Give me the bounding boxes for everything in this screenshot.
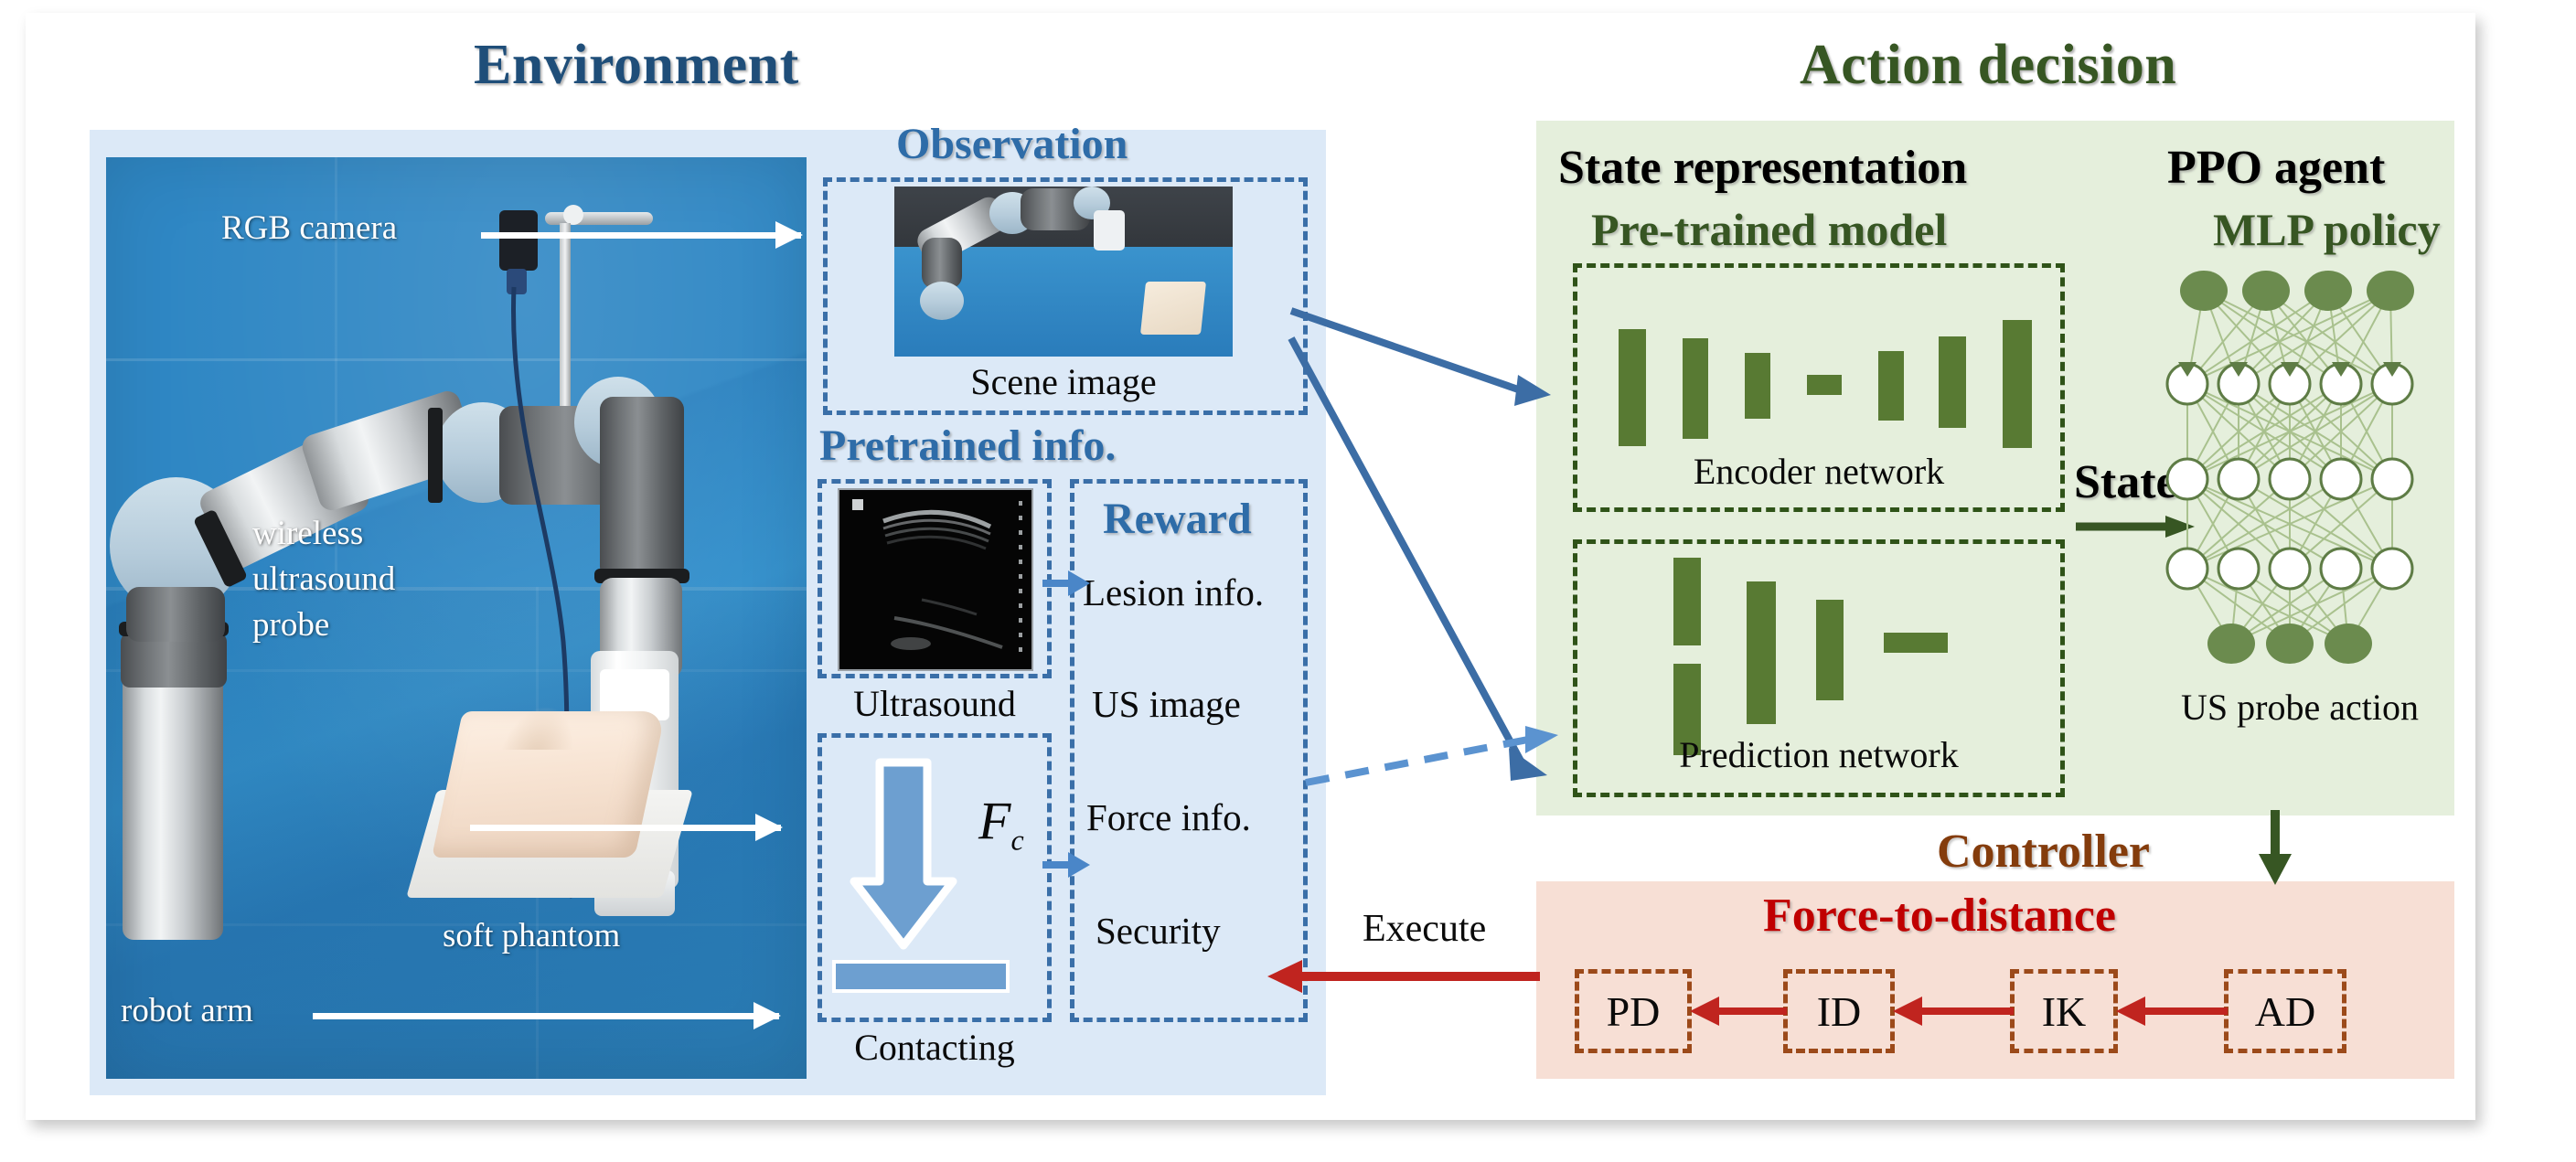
arrow-id-to-pd bbox=[1688, 995, 1790, 1028]
reward-heading: Reward bbox=[1103, 494, 1252, 544]
force-connector-arrow bbox=[1041, 847, 1092, 883]
controller-node-ik: IK bbox=[2010, 969, 2118, 1053]
reward-item-lesion-info: Lesion info. bbox=[1083, 570, 1264, 614]
reward-item-security: Security bbox=[1096, 909, 1221, 953]
scene-image-caption: Scene image bbox=[894, 360, 1233, 403]
robot-arm-label: robot arm bbox=[121, 991, 253, 1030]
experiment-setup-photo: RGB camera wireless ultrasound probe sof… bbox=[106, 157, 807, 1079]
controller-node-pd: PD bbox=[1575, 969, 1692, 1053]
soft-phantom-object bbox=[422, 706, 678, 902]
probe-pointer bbox=[470, 825, 781, 831]
ultrasound-caption: Ultrasound bbox=[818, 682, 1052, 725]
rgb-camera-label: RGB camera bbox=[221, 208, 397, 248]
force-arrow-icon bbox=[847, 757, 966, 967]
reward-item-force-info: Force info. bbox=[1086, 795, 1251, 839]
environment-panel: RGB camera wireless ultrasound probe sof… bbox=[90, 130, 1326, 1095]
soft-phantom-label: soft phantom bbox=[443, 916, 620, 955]
arrow-ad-to-ik bbox=[2114, 995, 2231, 1028]
observation-heading: Observation bbox=[896, 119, 1128, 169]
probe-label-line2: ultrasound bbox=[252, 560, 395, 599]
robot-arm-pointer bbox=[313, 1013, 779, 1019]
ppo-agent-heading: PPO agent bbox=[2167, 141, 2385, 195]
scene-image bbox=[894, 187, 1233, 357]
state-representation-heading: State representation bbox=[1558, 141, 1967, 195]
reward-to-prediction-dashed-arrow bbox=[1306, 726, 1560, 790]
controller-node-ad: AD bbox=[2224, 969, 2346, 1053]
encoder-network-caption: Encoder network bbox=[1573, 450, 2065, 493]
state-arrow-label: State bbox=[2074, 455, 2177, 509]
reward-item-us-image: US image bbox=[1092, 682, 1241, 726]
action-to-controller-arrow bbox=[2257, 810, 2293, 887]
force-to-distance-subtitle: Force-to-distance bbox=[1763, 889, 2116, 943]
rgb-camera-pointer bbox=[481, 232, 801, 239]
probe-label-line1: wireless bbox=[252, 514, 363, 553]
pretrained-info-heading: Pretrained info. bbox=[819, 421, 1116, 471]
environment-title: Environment bbox=[474, 33, 799, 98]
figure-page: Environment Action decision bbox=[26, 13, 2475, 1120]
contact-plate bbox=[832, 960, 1010, 993]
controller-node-id: ID bbox=[1783, 969, 1895, 1053]
execute-label: Execute bbox=[1363, 907, 1486, 951]
action-decision-title: Action decision bbox=[1800, 33, 2176, 98]
controller-panel: Force-to-distance PD ID IK AD bbox=[1536, 881, 2454, 1079]
arrow-ik-to-id bbox=[1891, 995, 2017, 1028]
mlp-policy-heading: MLP policy bbox=[2213, 203, 2441, 256]
execute-arrow bbox=[1266, 958, 1547, 995]
force-symbol: Fc bbox=[978, 790, 1024, 858]
us-probe-action-caption: US probe action bbox=[2167, 686, 2432, 729]
ultrasound-image bbox=[838, 488, 1033, 671]
prediction-network-caption: Prediction network bbox=[1573, 733, 2065, 776]
pre-trained-model-heading: Pre-trained model bbox=[1591, 203, 1947, 256]
probe-label-line3: probe bbox=[252, 605, 329, 645]
action-decision-panel: State representation PPO agent Pre-train… bbox=[1536, 121, 2454, 816]
contacting-caption: Contacting bbox=[818, 1026, 1052, 1069]
controller-title: Controller bbox=[1937, 825, 2150, 879]
mlp-policy-network bbox=[2167, 267, 2432, 669]
lesion-connector-arrow bbox=[1041, 565, 1092, 602]
